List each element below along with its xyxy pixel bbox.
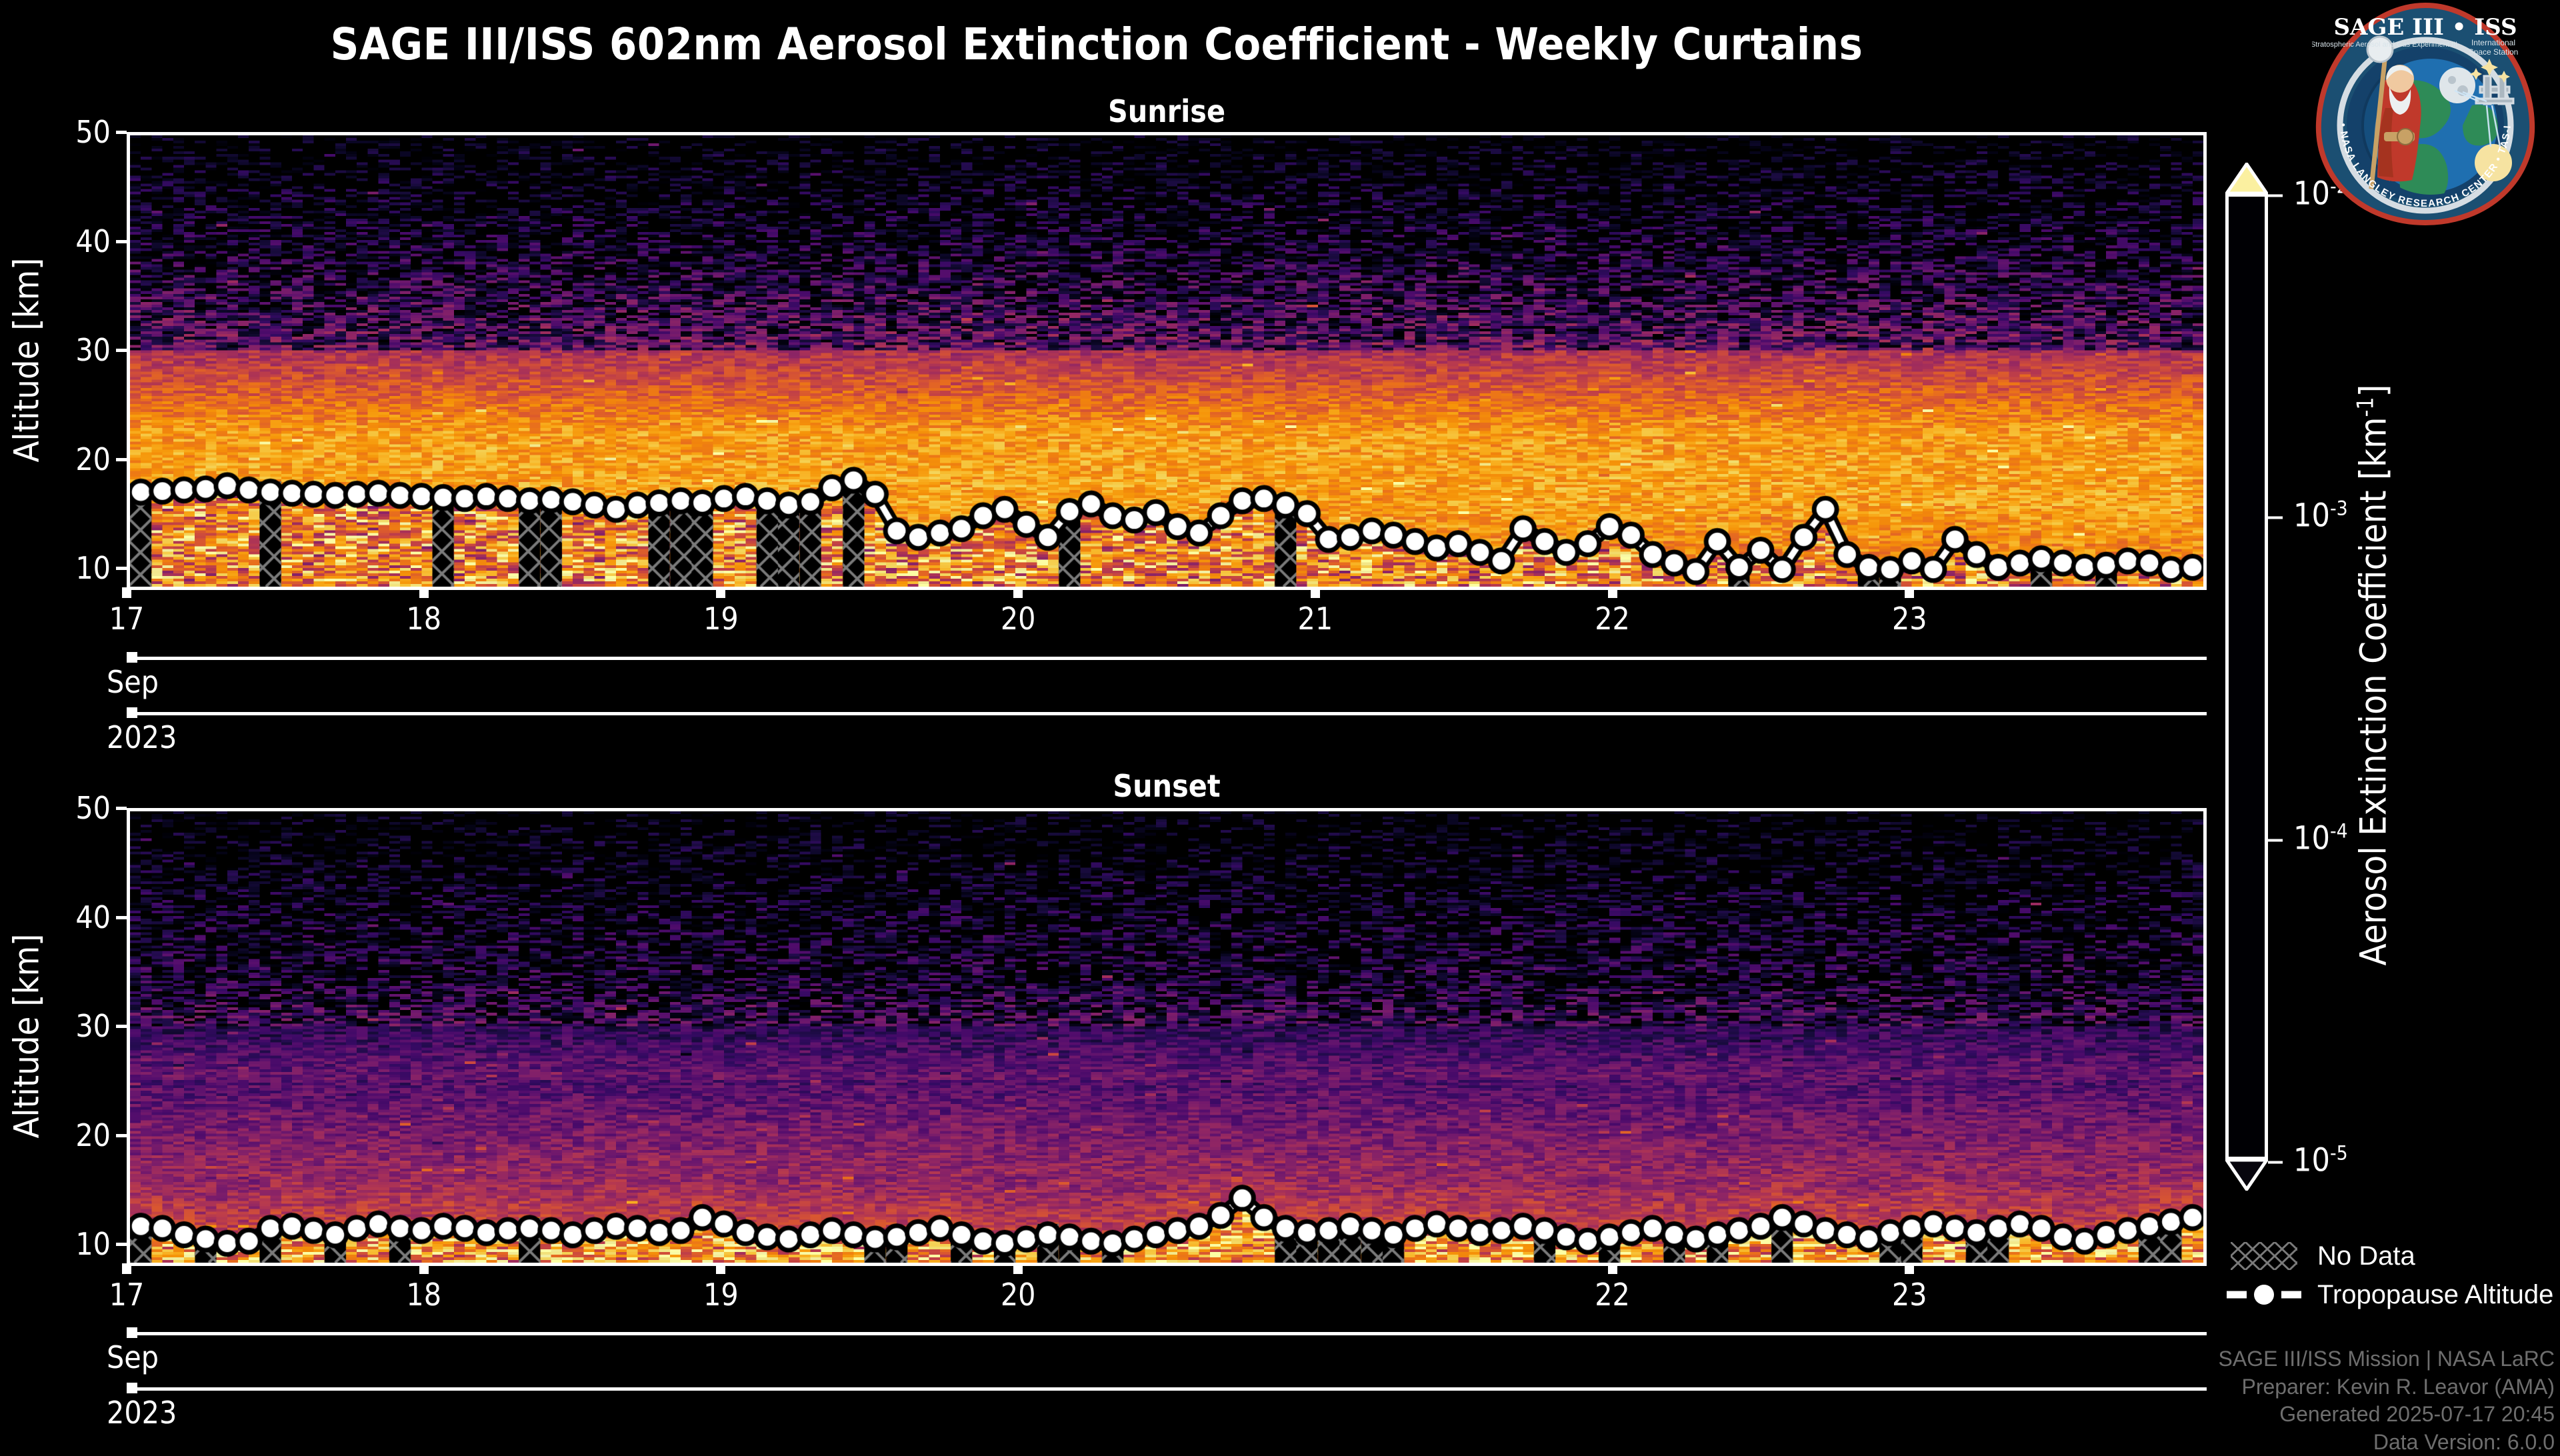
sunrise-year-label: 2023 <box>107 722 177 753</box>
sunrise-y-tickmark-50 <box>116 131 127 134</box>
logo-title: SAGE III • ISS <box>2333 14 2517 41</box>
sunrise-y-tick-40: 40 <box>27 226 111 257</box>
sunset-y-tick-10: 10 <box>27 1229 111 1259</box>
sunset-x-tickmark-18 <box>419 1263 429 1274</box>
sunrise-year-cap <box>127 707 137 718</box>
sunrise-x-tick-19: 19 <box>667 603 774 634</box>
colorbar[interactable]: 10-210-310-410-5 <box>2225 193 2268 1160</box>
sunrise-y-tick-50: 50 <box>27 117 111 147</box>
sunset-plot-axes[interactable] <box>127 808 2207 1266</box>
sunset-y-tickmark-30 <box>116 1025 127 1028</box>
sunrise-y-tick-10: 10 <box>27 553 111 583</box>
sunset-x-tickmark-19 <box>716 1263 725 1274</box>
sunset-x-tickmark-23 <box>1905 1263 1914 1274</box>
sunset-x-tickmark-17 <box>122 1263 131 1274</box>
sunset-month-rule <box>127 1332 2207 1335</box>
sunrise-month-cap <box>127 652 137 663</box>
sunrise-x-tick-22: 22 <box>1559 603 1666 634</box>
panel-title-sunset: Sunset <box>127 768 2207 804</box>
sunset-year-rule <box>127 1387 2207 1391</box>
sunset-year-label: 2023 <box>107 1397 177 1428</box>
sunset-y-tick-30: 30 <box>27 1011 111 1041</box>
sunrise-month-label: Sep <box>107 667 159 697</box>
sunset-y-tick-20: 20 <box>27 1120 111 1151</box>
sunrise-x-tick-20: 20 <box>965 603 1071 634</box>
sunrise-y-tickmark-40 <box>116 240 127 243</box>
colorbar-tick-3: 10-5 <box>2268 1144 2348 1177</box>
colorbar-axis-label: Aerosol Extinction Coefficient [km-1] <box>2353 175 2395 1175</box>
sunset-y-tickmark-10 <box>116 1243 127 1246</box>
hatch-swatch-icon <box>2227 1239 2301 1273</box>
sunset-x-tickmark-22 <box>1608 1263 1617 1274</box>
tropopause-marker-icon <box>2227 1278 2301 1311</box>
sunset-tropopause-overlay <box>130 811 2203 1263</box>
sunset-month-cap <box>127 1327 137 1338</box>
sunrise-x-tick-17: 17 <box>73 603 180 634</box>
sunset-y-tick-40: 40 <box>27 902 111 933</box>
sunset-x-tick-23: 23 <box>1856 1279 1963 1310</box>
panel-title-sunrise: Sunrise <box>127 93 2207 129</box>
sunset-y-tickmark-20 <box>116 1134 127 1137</box>
sunrise-x-tickmark-20 <box>1013 587 1023 598</box>
legend-item-no-data[interactable]: No Data <box>2227 1237 2560 1275</box>
sunrise-year-rule <box>127 712 2207 715</box>
page-title: SAGE III/ISS 602nm Aerosol Extinction Co… <box>0 19 2193 70</box>
sunset-x-tick-22: 22 <box>1559 1279 1666 1310</box>
sunrise-y-tickmark-10 <box>116 567 127 570</box>
footer-credits: SAGE III/ISS Mission | NASA LaRC Prepare… <box>2219 1345 2555 1456</box>
sunrise-plot-axes[interactable] <box>127 132 2207 590</box>
legend: No Data Tropopause Altitude <box>2227 1237 2560 1314</box>
sunrise-y-tick-20: 20 <box>27 444 111 475</box>
sunrise-month-rule <box>127 657 2207 660</box>
sunset-month-label: Sep <box>107 1342 159 1373</box>
legend-label-tropopause: Tropopause Altitude <box>2317 1280 2553 1310</box>
sunrise-y-tickmark-20 <box>116 458 127 461</box>
legend-label-no-data: No Data <box>2317 1241 2415 1271</box>
sunrise-x-tick-18: 18 <box>371 603 477 634</box>
colorbar-tick-1: 10-3 <box>2268 499 2348 532</box>
sunset-x-tickmark-20 <box>1013 1263 1023 1274</box>
sunset-x-tick-18: 18 <box>371 1279 477 1310</box>
sunrise-x-tickmark-17 <box>122 587 131 598</box>
sunrise-x-tickmark-22 <box>1608 587 1617 598</box>
sunrise-y-tickmark-30 <box>116 349 127 352</box>
sage-iii-iss-mission-patch-logo: SAGE III • ISS Stratospheric Aerosol and… <box>2312 1 2539 228</box>
logo-subtitle-right-2: Space Station <box>2469 47 2519 57</box>
sunset-x-tick-19: 19 <box>667 1279 774 1310</box>
sunset-year-cap <box>127 1383 137 1393</box>
colorbar-extend-min-arrow <box>2225 1159 2268 1191</box>
sunrise-y-tick-30: 30 <box>27 335 111 365</box>
logo-subtitle-right-1: International <box>2471 38 2515 47</box>
sunrise-x-tick-23: 23 <box>1856 603 1963 634</box>
sunset-y-tick-50: 50 <box>27 793 111 823</box>
sunset-y-tickmark-40 <box>116 916 127 919</box>
sunset-x-tick-17: 17 <box>73 1279 180 1310</box>
sunrise-x-tickmark-23 <box>1905 587 1914 598</box>
colorbar-tick-2: 10-4 <box>2268 821 2348 854</box>
sunrise-x-tickmark-18 <box>419 587 429 598</box>
figure-canvas: SAGE III/ISS 602nm Aerosol Extinction Co… <box>0 0 2560 1440</box>
colorbar-gradient <box>2225 193 2268 1160</box>
sunset-y-tickmark-50 <box>116 807 127 810</box>
sunrise-tropopause-overlay <box>130 135 2203 587</box>
legend-item-tropopause[interactable]: Tropopause Altitude <box>2227 1275 2560 1314</box>
sunrise-x-tick-21: 21 <box>1262 603 1369 634</box>
sunrise-x-tickmark-21 <box>1311 587 1320 598</box>
sunrise-x-tickmark-19 <box>716 587 725 598</box>
colorbar-extend-max-arrow <box>2225 163 2268 195</box>
logo-subtitle-left: Stratospheric Aerosol and Gas Experiment… <box>2312 41 2457 49</box>
sunset-x-tick-20: 20 <box>965 1279 1071 1310</box>
